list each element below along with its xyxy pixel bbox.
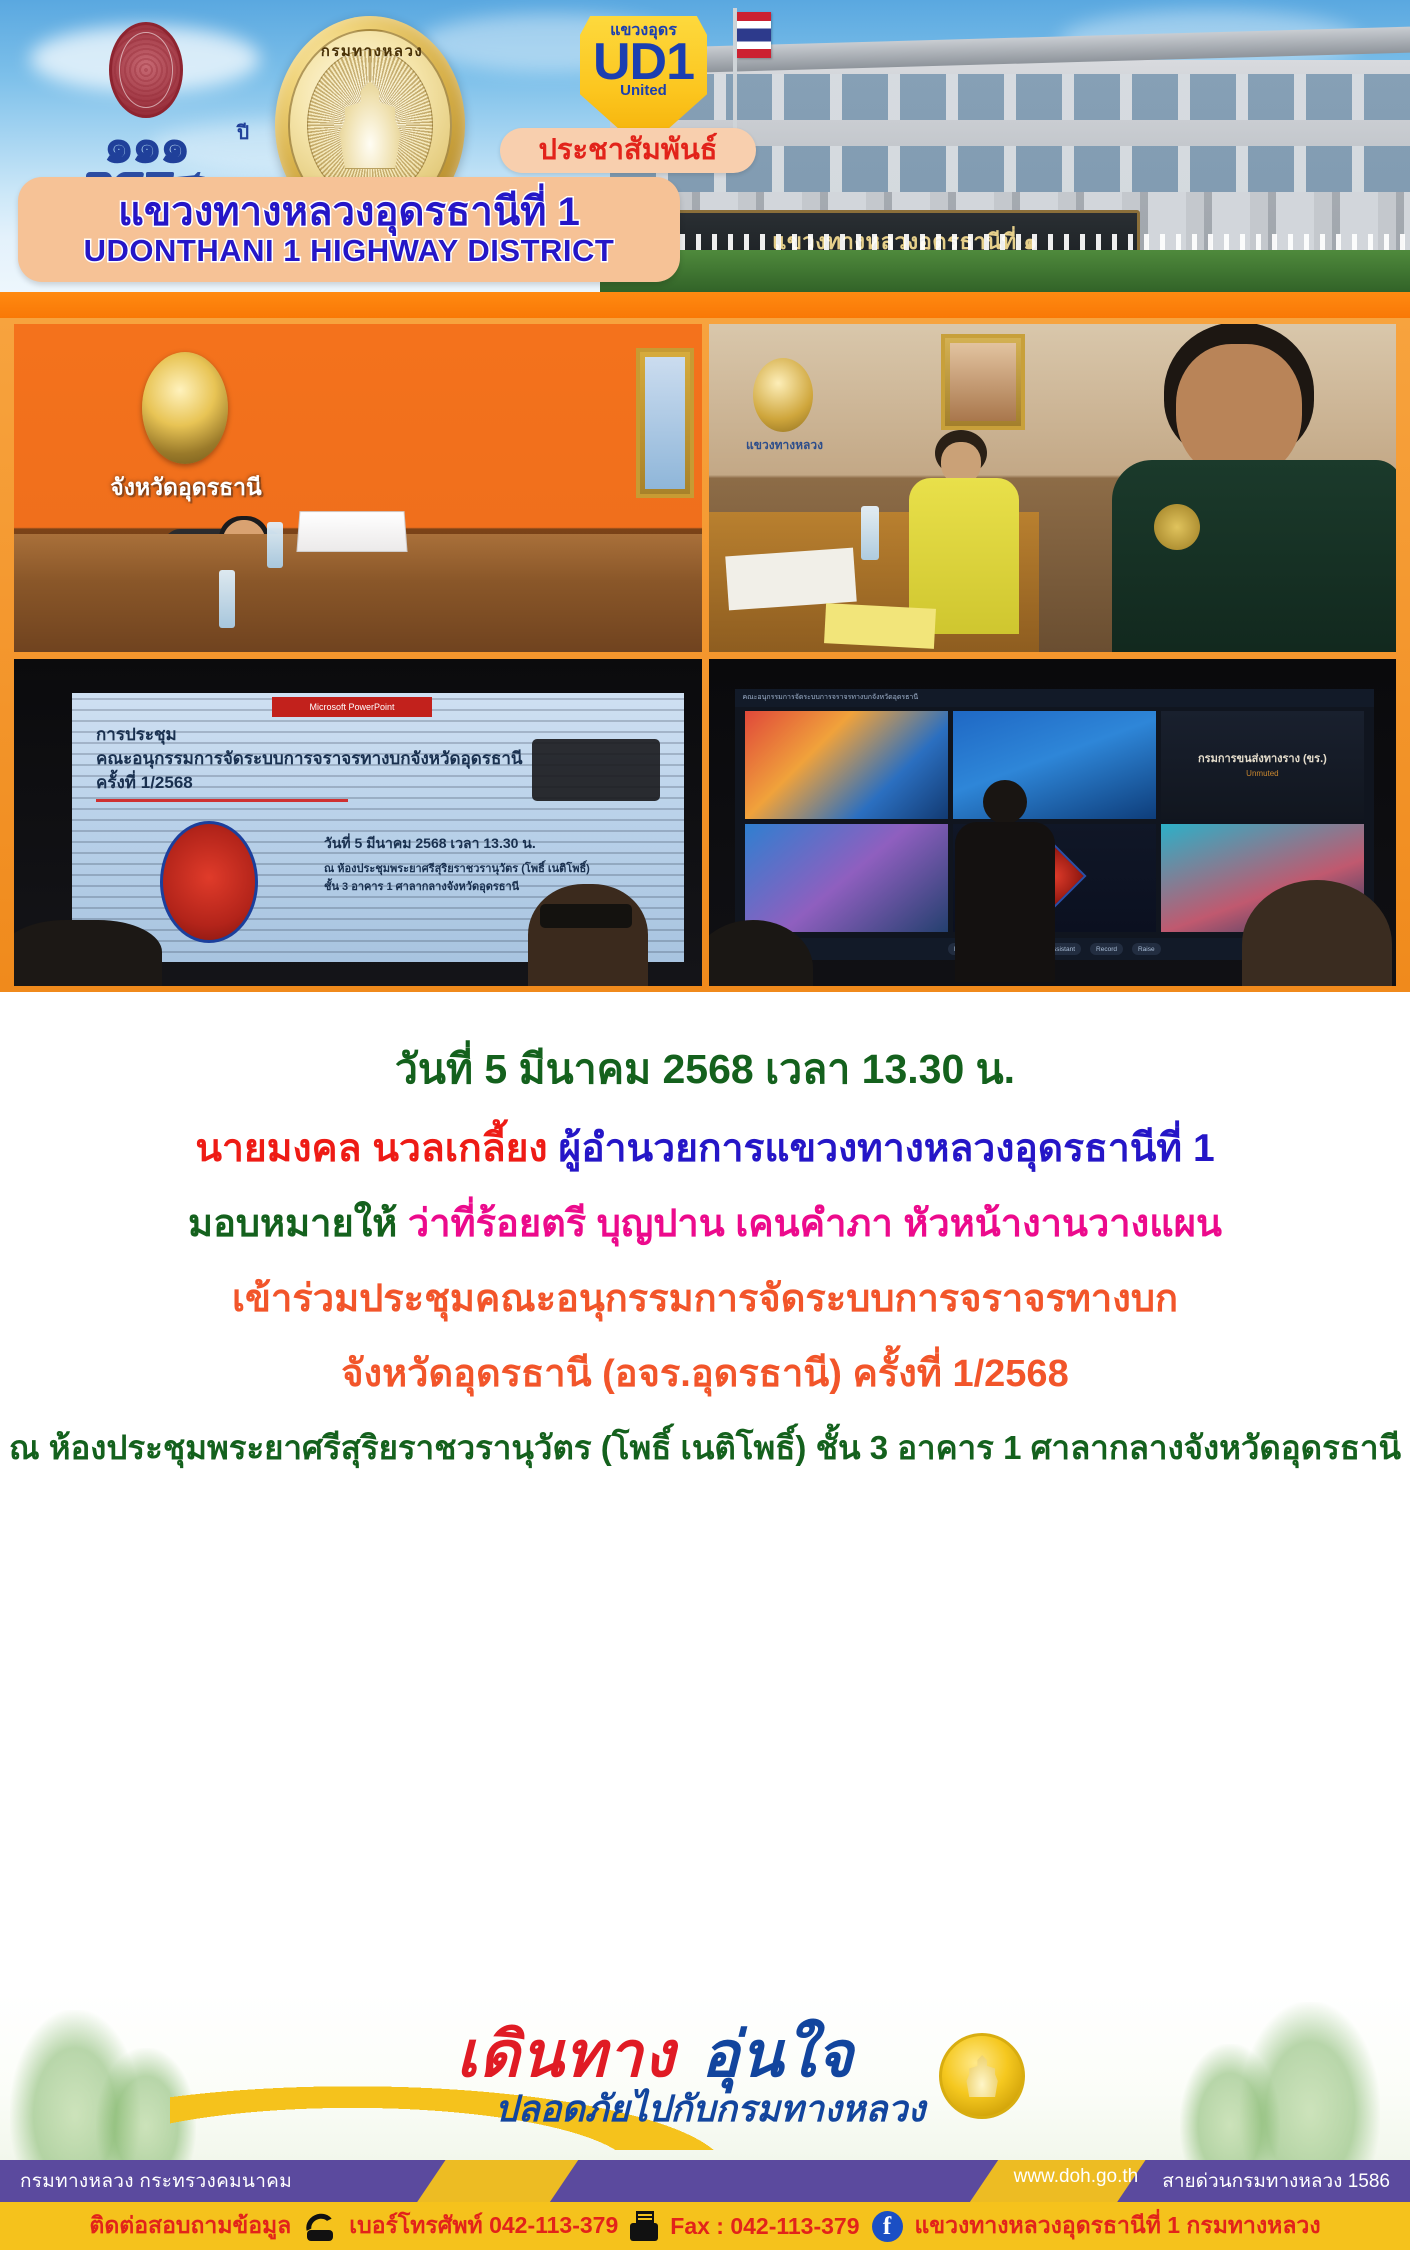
- anniversary-number-text: ๑๑๑: [103, 117, 187, 174]
- person-head: [983, 780, 1027, 824]
- video-tile: [745, 711, 948, 819]
- person-foreground-officer: [1102, 324, 1396, 652]
- slogan-subline-b: กรมทางหลวง: [715, 2089, 925, 2129]
- wall-label: แขวงทางหลวง: [733, 436, 837, 455]
- building-hedge: [600, 250, 1410, 296]
- slide-line-3: ครั้งที่ 1/2568: [96, 769, 193, 796]
- person-body: [955, 822, 1055, 982]
- yellow-document: [824, 603, 936, 649]
- telephone-icon: [303, 2211, 337, 2241]
- slogan-subline-a: ปลอดภัยไปกับ: [495, 2089, 715, 2129]
- anniversary-years-suffix: ปี: [237, 124, 249, 143]
- raise-hand-button[interactable]: Raise: [1132, 943, 1161, 955]
- doh-gold-logo-icon: [939, 2033, 1025, 2119]
- announcement-text-block: วันที่ 5 มีนาคม 2568 เวลา 13.30 น. นายมง…: [0, 992, 1410, 1992]
- poster-title-banner: แขวงทางหลวงอุดรธานีที่ 1 UDONTHANI 1 HIG…: [18, 177, 680, 282]
- building-window-row: [610, 74, 1410, 120]
- slide-line-4: วันที่ 5 มีนาคม 2568 เวลา 13.30 น.: [324, 833, 536, 855]
- page-title-thai: แขวงทางหลวงอุดรธานีที่ 1: [118, 191, 580, 233]
- poster-header: แขวงทางหลวงอุดรธานีที่ ๑ สำนักงานทางหลวง…: [0, 0, 1410, 296]
- person-attendee-yellow: [909, 430, 1019, 630]
- phone-number-label[interactable]: เบอร์โทรศัพท์ 042-113-379: [349, 2208, 618, 2244]
- jacket-logo-icon: [1154, 504, 1200, 550]
- powerpoint-titlebar: Microsoft PowerPoint: [272, 697, 432, 717]
- contact-label: ติดต่อสอบถามข้อมูล: [89, 2208, 291, 2244]
- slogan-word-1: เดินทาง: [456, 2020, 675, 2090]
- hotline-label: สายด่วนกรมทางหลวง 1586: [1162, 2166, 1390, 2196]
- garuda-emblem-icon: [160, 821, 258, 943]
- presenter-control-overlay: [532, 739, 660, 801]
- assignment-verb: มอบหมายให้: [188, 1203, 397, 1245]
- thai-flag-icon: [737, 12, 771, 58]
- conference-topbar-title: คณะอนุกรรมการจัดระบบการจราจรทางบกจังหวัด…: [743, 692, 919, 703]
- video-tile: [745, 824, 948, 932]
- text-line-date: วันที่ 5 มีนาคม 2568 เวลา 13.30 น.: [0, 1042, 1410, 1097]
- person-audience-head: [528, 884, 648, 986]
- text-line-venue: ณ ห้องประชุมพระยาศรีสุริยราชวรานุวัตร (โ…: [0, 1426, 1410, 1470]
- slogan-text: เดินทางอุ่นใจ ปลอดภัยไปกับกรมทางหลวง: [385, 2024, 925, 2129]
- royal-seal-icon: [109, 22, 183, 118]
- slogan-content: เดินทางอุ่นใจ ปลอดภัยไปกับกรมทางหลวง: [0, 1992, 1410, 2160]
- video-tile-name: กรมการขนส่งทางราง (ขร.): [1161, 749, 1364, 767]
- text-line-meeting-2: จังหวัดอุดรธานี (อจร.อุดรธานี) ครั้งที่ …: [0, 1349, 1410, 1400]
- water-bottle: [267, 522, 283, 568]
- provincial-emblem-icon: [142, 352, 228, 464]
- video-tile: กรมการขนส่งทางราง (ขร.) Unmuted: [1161, 711, 1364, 819]
- person-foreground-shoulder: [14, 920, 162, 986]
- documents-stack: [725, 547, 856, 610]
- province-wall-label: จังหวัดอุดรธานี: [88, 470, 284, 506]
- shield-main-label: UD1: [593, 38, 694, 87]
- slogan-word-2: อุ่นใจ: [701, 2020, 854, 2090]
- fax-machine-icon: [630, 2211, 658, 2241]
- purple-bar-contacts: www.doh.go.th สายด่วนกรมทางหลวง 1586: [1014, 2166, 1390, 2196]
- person-body: [1112, 460, 1396, 652]
- text-line-director: นายมงคล นวลเกลี้ยง ผู้อำนวยการแขวงทางหลว…: [0, 1123, 1410, 1175]
- desk-nameplate: [296, 511, 407, 552]
- photo-projection-screen: Microsoft PowerPoint การประชุม คณะอนุกรร…: [14, 659, 702, 987]
- text-line-meeting-1: เข้าร่วมประชุมคณะอนุกรรมการจัดระบบการจรา…: [0, 1274, 1410, 1325]
- orange-divider-bar: [0, 292, 1410, 318]
- director-name: นายมงคล นวลเกลี้ยง: [195, 1127, 547, 1170]
- slide-line-6: ชั้น 3 อาคาร 1 ศาลากลางจังหวัดอุดรธานี: [324, 877, 519, 895]
- photo-meeting-attendees: แขวงทางหลวง: [709, 324, 1397, 652]
- seal-emblem: [337, 81, 403, 169]
- fax-number-label[interactable]: Fax : 042-113-379: [670, 2213, 859, 2240]
- slide-line-1: การประชุม: [96, 721, 177, 748]
- facebook-page-label[interactable]: แขวงทางหลวงอุดรธานีที่ 1 กรมทางหลวง: [915, 2208, 1321, 2244]
- record-button[interactable]: Record: [1090, 943, 1123, 955]
- fax-body: [630, 2223, 658, 2241]
- water-bottle: [219, 570, 235, 628]
- photo-meeting-chairman: จังหวัดอุดรธานี: [14, 324, 702, 652]
- conference-topbar: คณะอนุกรรมการจัดระบบการจราจรทางบกจังหวัด…: [735, 689, 1375, 707]
- telephone-base: [307, 2230, 333, 2241]
- slogan-banner: เดินทางอุ่นใจ ปลอดภัยไปกับกรมทางหลวง: [0, 1992, 1410, 2160]
- video-tile-status: Unmuted: [1161, 769, 1364, 778]
- seal-thai-text: กรมทางหลวง: [290, 39, 454, 63]
- photo-online-meeting-screen: คณะอนุกรรมการจัดระบบการจราจรทางบกจังหวัด…: [709, 659, 1397, 987]
- wall-picture-frame: [636, 348, 694, 498]
- slide-red-rule: [96, 799, 348, 802]
- director-title: ผู้อำนวยการแขวงทางหลวงอุดรธานีที่ 1: [558, 1127, 1214, 1170]
- slide-line-5: ณ ห้องประชุมพระยาศรีสุริยราชวรานุวัตร (โ…: [324, 859, 590, 877]
- purple-bar-organization: กรมทางหลวง กระทรวงคมนาคม: [20, 2166, 292, 2196]
- text-line-assignment: มอบหมายให้ ว่าที่ร้อยตรี บุญปาน เคนคำภา …: [0, 1199, 1410, 1250]
- purple-info-bar: กรมทางหลวง กระทรวงคมนาคม www.doh.go.th ส…: [0, 2160, 1410, 2202]
- assigned-person: ว่าที่ร้อยตรี บุญปาน เคนคำภา หัวหน้างานว…: [408, 1203, 1222, 1245]
- public-relations-label: ประชาสัมพันธ์: [539, 136, 718, 165]
- shield-sub-label: United: [620, 83, 667, 98]
- purple-swoosh-decoration: [509, 2160, 1030, 2202]
- slogan-line-2: ปลอดภัยไปกับกรมทางหลวง: [495, 2091, 925, 2129]
- photo-grid: จังหวัดอุดรธานี แขวงทางหลวง: [0, 318, 1410, 992]
- slide-line-2: คณะอนุกรรมการจัดระบบการจราจรทางบกจังหวัด…: [96, 745, 523, 772]
- anniversary-number: ๑๑๑ปี: [58, 121, 233, 170]
- slogan-line-1: เดินทางอุ่นใจ: [385, 2024, 925, 2087]
- public-relations-badge: ประชาสัมพันธ์: [500, 128, 756, 173]
- water-bottle: [861, 506, 879, 560]
- facebook-icon[interactable]: f: [872, 2211, 903, 2242]
- framed-portrait: [941, 334, 1025, 430]
- page-title-english: UDONTHANI 1 HIGHWAY DISTRICT: [84, 234, 615, 268]
- footer-contact-bar: ติดต่อสอบถามข้อมูล เบอร์โทรศัพท์ 042-113…: [0, 2202, 1410, 2250]
- person-presenter-standing: [945, 780, 1065, 980]
- website-url[interactable]: www.doh.go.th: [1014, 2166, 1139, 2196]
- gold-wall-emblem-icon: [753, 358, 813, 432]
